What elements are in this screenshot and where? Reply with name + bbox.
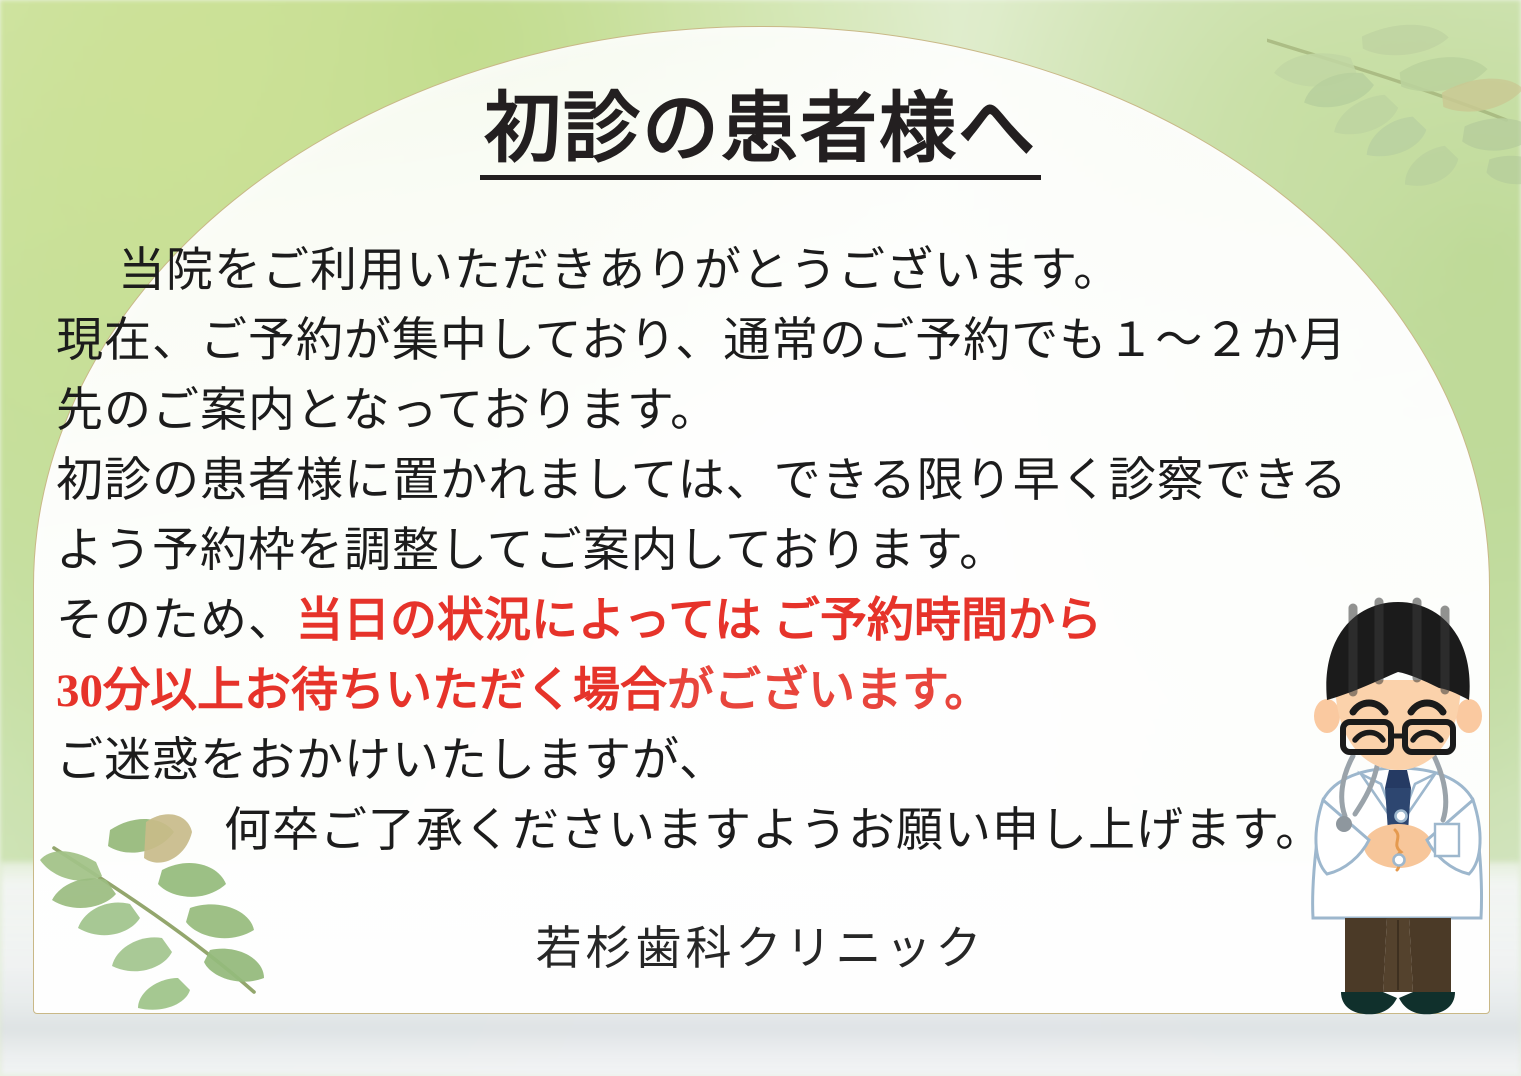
emphasis-text-run: 30分以上お待ちいただく場合	[56, 665, 667, 717]
body-text-run: 当院をご利用いただきありがとうございます。	[118, 245, 1121, 297]
body-text-run: 現在、ご予約が集中しており、通常のご予約でも１〜２か月	[56, 315, 1347, 367]
poster-canvas: 初診の患者様へ 当院をご利用いただきありがとうございます。現在、ご予約が集中して…	[0, 0, 1521, 1076]
body-text-run: 初診の患者様に置かれましては、できる限り早く診察できる	[56, 455, 1348, 507]
body-text-line: 先のご案内となっております。	[56, 376, 1466, 446]
page-title: 初診の患者様へ	[480, 88, 1041, 180]
body-text-line: 初診の患者様に置かれましては、できる限り早く診察できる	[56, 446, 1466, 516]
body-text-line: 当院をご利用いただきありがとうございます。	[56, 236, 1466, 306]
body-text-block: 当院をご利用いただきありがとうございます。現在、ご予約が集中しており、通常のご予…	[56, 236, 1466, 866]
body-text-line: 30分以上お待ちいただく場合がございます。	[56, 656, 1466, 726]
body-text-line: 何卒ご了承くださいますようお願い申し上げます。	[56, 796, 1466, 866]
body-text-line: そのため、当日の状況によっては ご予約時間から	[56, 586, 1466, 656]
body-text-run: 何卒ご了承くださいますようお願い申し上げます。	[224, 805, 1323, 857]
body-text-run: ご迷惑をおかけいたしますが、	[56, 735, 727, 787]
body-text-line: よう予約枠を調整してご案内しております。	[56, 516, 1466, 586]
emphasis-text-run: がございます。	[667, 665, 991, 717]
body-text-run: 先のご案内となっております。	[56, 385, 718, 437]
body-text-run: よう予約枠を調整してご案内しております。	[56, 525, 1007, 577]
body-text-run: そのため、	[56, 595, 296, 647]
body-text-line: 現在、ご予約が集中しており、通常のご予約でも１〜２か月	[56, 306, 1466, 376]
body-text-line: ご迷惑をおかけいたしますが、	[56, 726, 1466, 796]
doctor-illustration-icon	[1283, 588, 1513, 1028]
emphasis-text-run: 当日の状況によっては ご予約時間から	[296, 595, 1102, 647]
poster-title-container: 初診の患者様へ	[0, 88, 1521, 180]
